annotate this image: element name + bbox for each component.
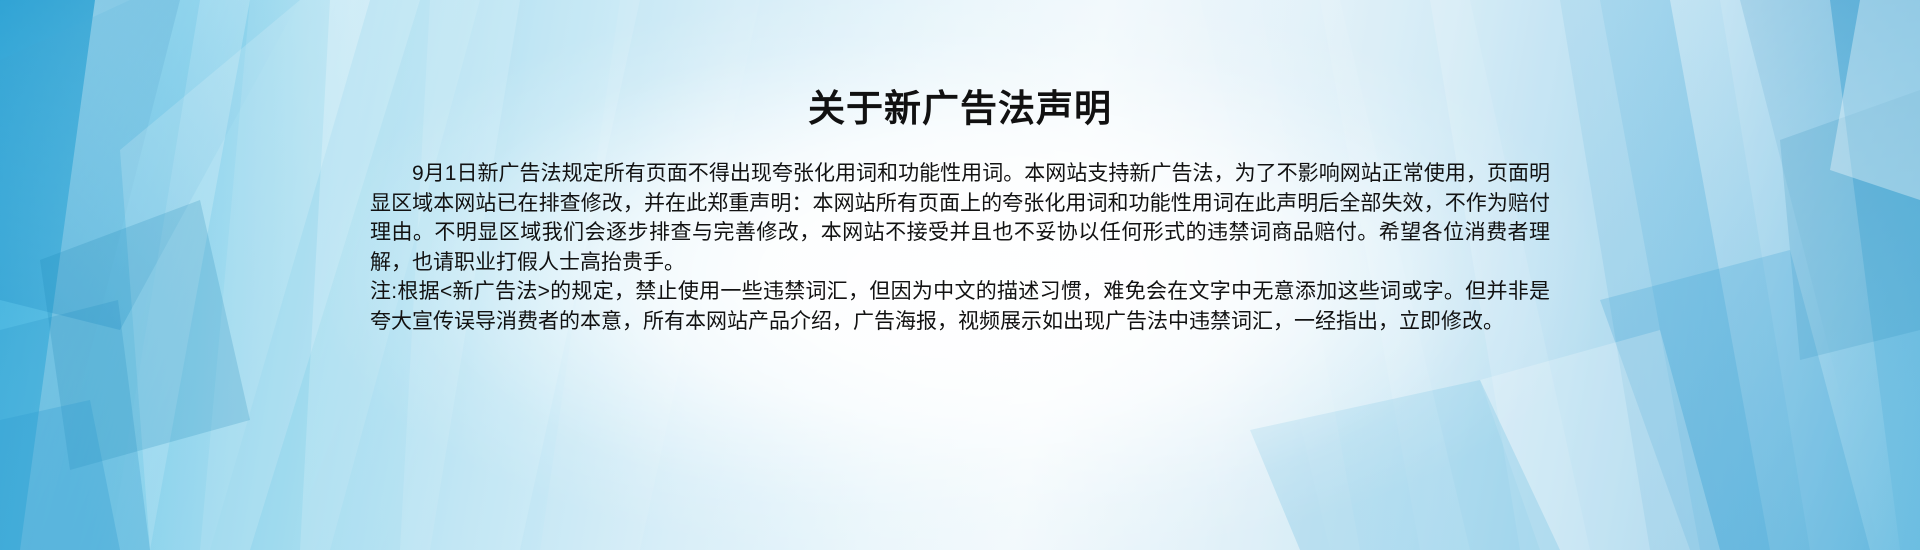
statement-paragraph-main: 9月1日新广告法规定所有页面不得出现夸张化用词和功能性用词。本网站支持新广告法，… [370, 159, 1550, 277]
advertising-law-statement-banner: 关于新广告法声明 9月1日新广告法规定所有页面不得出现夸张化用词和功能性用词。本… [0, 0, 1920, 550]
page-title: 关于新广告法声明 [370, 86, 1550, 132]
statement-body: 9月1日新广告法规定所有页面不得出现夸张化用词和功能性用词。本网站支持新广告法，… [370, 159, 1550, 336]
statement-paragraph-note: 注:根据<新广告法>的规定，禁止使用一些违禁词汇，但因为中文的描述习惯，难免会在… [370, 277, 1550, 336]
statement-content: 关于新广告法声明 9月1日新广告法规定所有页面不得出现夸张化用词和功能性用词。本… [370, 0, 1550, 550]
